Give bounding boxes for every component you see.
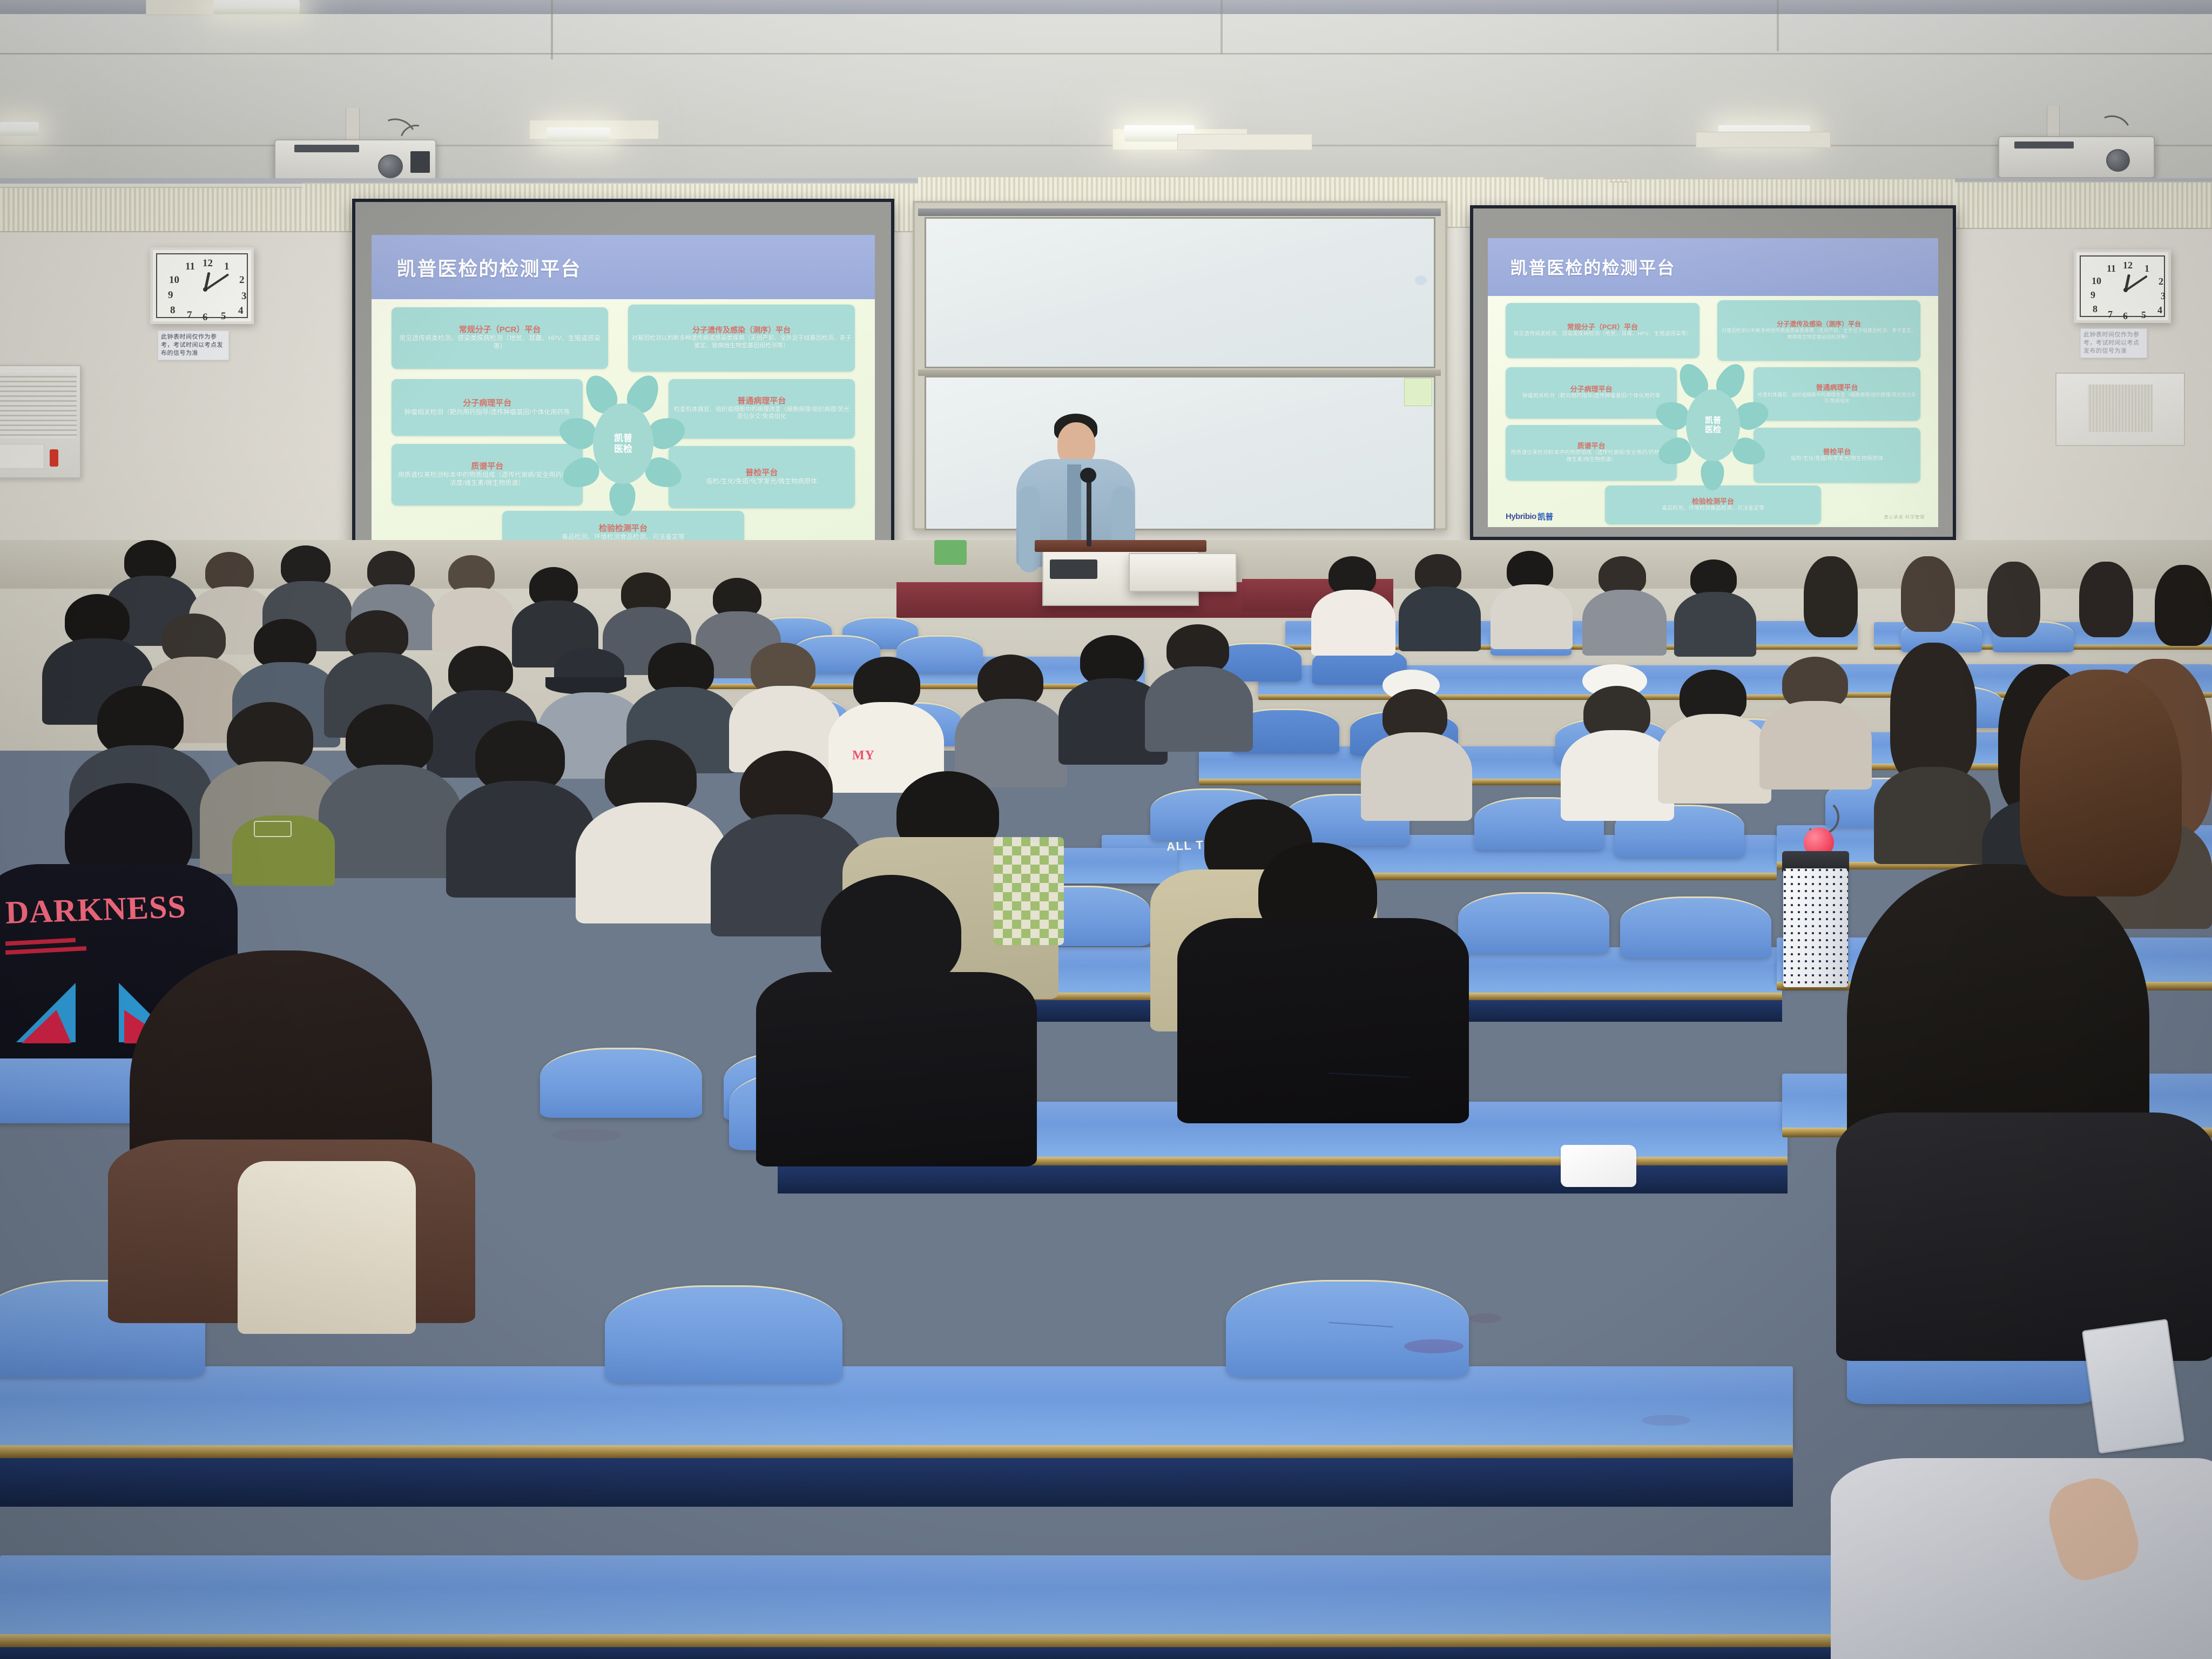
lecture-hall-photo: 12 1 2 3 4 5 6 7 8 9 10 11 此钟表时间仅作为参考，考试…	[0, 0, 2212, 1659]
student-dark-hoodie	[1177, 918, 1469, 1123]
slide-box-sequencing-r: 分子遗传及感染（测序）平台 对基因检测以判断多种遗传病或感染类疾病（无创产前、全…	[1717, 300, 1920, 360]
slide-box-inspection-r: 检验检测平台 毒品检测、环境检测食品检测、司法鉴定等	[1605, 485, 1822, 525]
clock-notice-left: 此钟表时间仅作为参考，考试时间以考点发布的信号为准	[158, 331, 229, 360]
projection-screen-right: 凯普医检的检测平台 常规分子（PCR）平台 常见遗传病类检测、感染类疾病检测（地…	[1470, 205, 1956, 540]
slide-logo-line2: 医检	[614, 444, 632, 455]
smartphone	[2082, 1319, 2184, 1454]
whiteboard-tag	[1404, 378, 1432, 406]
slide-title: 凯普医检的检测平台	[396, 253, 581, 281]
slide-box-pcr: 常规分子（PCR）平台 常见遗传病类检测、感染类疾病检测（地贫、耳聋、HPV、生…	[392, 307, 608, 369]
slide-left: 凯普医检的检测平台 常规分子（PCR）平台 常见遗传病类检测、感染类疾病检测（地…	[372, 235, 875, 557]
jacket-text-darkness: DARKNESS	[5, 888, 187, 932]
whiteboard-surface-upper	[925, 217, 1435, 368]
lectern-top	[1035, 540, 1206, 552]
whiteboard-surface-lower	[925, 376, 1435, 530]
microphone-head	[1080, 468, 1096, 483]
slide-footer-note-r: 真心承诺·科学管理	[1884, 514, 1925, 520]
slide-box-mass-spec: 质谱平台 用质谱仪来检测标本中的物质组成（遗传代谢病/安全用药/药物浓度/维生素…	[392, 444, 583, 506]
green-object	[934, 540, 967, 565]
slide-box-mass-spec-r: 质谱平台 用质谱仪来检测标本中的物质组成（遗传代谢病/安全用药/药物浓度/维生素…	[1506, 425, 1677, 481]
wall-clock-right: 12 1 2 3 4 5 6 7 8 9 10 11	[2074, 249, 2171, 323]
slide-title-right: 凯普医检的检测平台	[1510, 254, 1675, 279]
wall-clock-left: 12 1 2 3 4 5 6 7 8 9 10 11	[150, 247, 254, 324]
slide-box-general-pathology: 普通病理平台 检查机体器官、组织或细胞中的病理改变（细胞病理/组织病理/荧光原位…	[669, 379, 855, 439]
slide-box-sequencing: 分子遗传及感染（测序）平台 对基因检测以判断多种遗传病或感染类疾病（无创产前、全…	[628, 305, 855, 372]
water-bottle	[1783, 868, 1848, 987]
slide-box-general-pathology-r: 普通病理平台 检查机体器官、组织或细胞中的病理改变（细胞病理/组织病理/荧光原位…	[1754, 367, 1920, 420]
chair-front-right	[1226, 1280, 1469, 1377]
side-table	[1129, 553, 1237, 592]
slide-box-molecular-pathology: 分子病理平台 肿瘤相关检测（靶向用药指导/遗传肿瘤基因/个体化用药等	[392, 379, 583, 436]
desk-front-row	[0, 1366, 1793, 1447]
desk-bottom-row	[0, 1555, 1836, 1636]
slide-right: 凯普医检的检测平台 常规分子（PCR）平台 常见遗传病类检测、感染类疾病检测（地…	[1488, 238, 1939, 527]
slide-center-flower-r: 凯普 医检	[1668, 365, 1758, 485]
slide-box-general-testing: 普检平台 临检/生化/免疫/化学发光/微生物病原体	[669, 446, 855, 508]
slide-box-molecular-pathology-r: 分子病理平台 肿瘤相关检测（靶向用药指导/遗传肿瘤基因/个体化用药等	[1506, 367, 1677, 418]
microphone-stand	[1087, 476, 1091, 547]
ceiling-light	[213, 0, 300, 14]
clock-notice-right: 此钟表时间仅作为参考，考试时间以考点发布的信号为准	[2080, 328, 2147, 358]
slide-box-general-testing-r: 普检平台 临检/生化/免疫/化学发光/微生物病原体	[1754, 428, 1920, 483]
slide-brand-logo-r: Hybribio 凯普	[1506, 511, 1553, 522]
chair	[540, 1048, 702, 1118]
slide-center-flower: 凯普 医检	[573, 377, 673, 511]
ceiling-light	[0, 122, 39, 136]
chair-front-mid	[605, 1285, 842, 1382]
student-bottom-right	[1831, 1458, 2212, 1659]
ceiling-light	[547, 127, 610, 141]
laptop-on-lectern	[1050, 559, 1097, 579]
hoodie-text-my: MY	[852, 748, 875, 763]
projection-screen-left: 凯普医检的检测平台 常规分子（PCR）平台 常见遗传病类检测、感染类疾病检测（地…	[352, 199, 894, 571]
slide-logo-line1: 凯普	[614, 433, 632, 444]
slide-box-pcr-r: 常规分子（PCR）平台 常见遗传病类检测、感染类疾病检测（地贫、耳聋、HPV、生…	[1506, 303, 1700, 359]
tissue	[1561, 1145, 1636, 1187]
